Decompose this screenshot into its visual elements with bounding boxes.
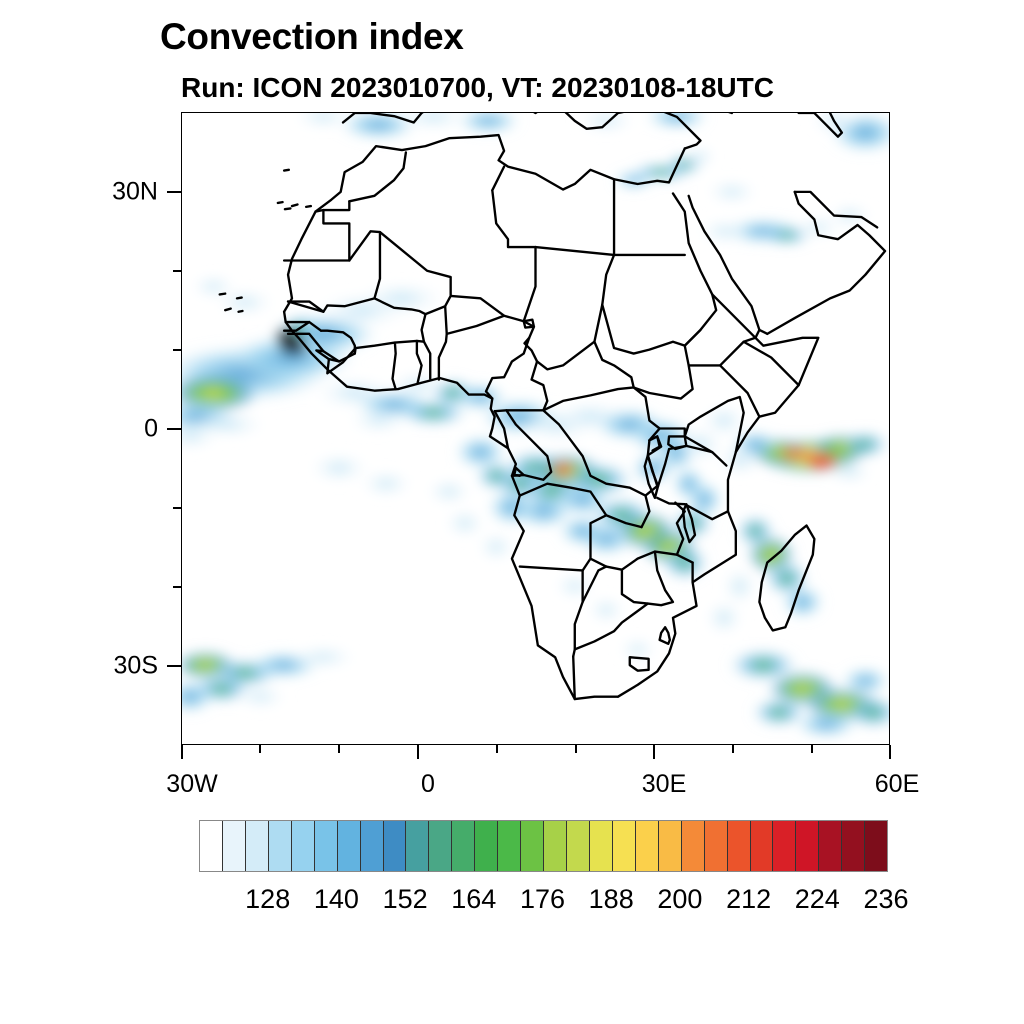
colorbar-cell bbox=[796, 821, 819, 871]
colorbar-cell bbox=[636, 821, 659, 871]
colorbar-cell bbox=[590, 821, 613, 871]
colorbar-cell bbox=[659, 821, 682, 871]
y-tick-major bbox=[167, 665, 181, 667]
colorbar-cell bbox=[751, 821, 774, 871]
colorbar-cell bbox=[406, 821, 429, 871]
colorbar-cell bbox=[269, 821, 292, 871]
colorbar-tick-label: 140 bbox=[314, 884, 359, 915]
run-valid-time-subtitle: Run: ICON 2023010700, VT: 20230108-18UTC bbox=[181, 72, 774, 104]
colorbar-cell bbox=[315, 821, 338, 871]
y-tick-major bbox=[167, 428, 181, 430]
colorbar-cell bbox=[728, 821, 751, 871]
y-tick-minor bbox=[173, 507, 181, 509]
colorbar-cell bbox=[521, 821, 544, 871]
x-tick-major bbox=[181, 745, 183, 759]
x-tick-minor bbox=[575, 745, 577, 753]
x-tick-minor bbox=[811, 745, 813, 753]
colorbar-tick-label: 236 bbox=[863, 884, 908, 915]
colorbar-cell bbox=[246, 821, 269, 871]
colorbar bbox=[199, 820, 888, 872]
x-axis-label-0: 0 bbox=[421, 770, 435, 799]
colorbar-cell bbox=[338, 821, 361, 871]
colorbar-tick-label: 200 bbox=[657, 884, 702, 915]
colorbar-cell bbox=[498, 821, 521, 871]
x-tick-minor bbox=[259, 745, 261, 753]
colorbar-tick-label: 176 bbox=[520, 884, 565, 915]
map-layers bbox=[182, 113, 889, 737]
y-axis-label-30n: 30N bbox=[100, 178, 158, 207]
colorbar-tick-label: 128 bbox=[245, 884, 290, 915]
colorbar-cell bbox=[842, 821, 865, 871]
map-coastlines-borders bbox=[220, 113, 885, 699]
x-tick-minor bbox=[732, 745, 734, 753]
x-tick-major bbox=[417, 745, 419, 759]
colorbar-cell bbox=[682, 821, 705, 871]
x-axis-label-30w: 30W bbox=[166, 770, 217, 799]
convection-index-field bbox=[182, 113, 889, 737]
y-tick-minor bbox=[173, 270, 181, 272]
colorbar-cell bbox=[613, 821, 636, 871]
colorbar-tick-label: 152 bbox=[383, 884, 428, 915]
colorbar-cell bbox=[567, 821, 590, 871]
colorbar-cell bbox=[361, 821, 384, 871]
y-tick-minor bbox=[173, 586, 181, 588]
x-tick-minor bbox=[338, 745, 340, 753]
x-tick-major bbox=[889, 745, 891, 759]
y-tick-minor bbox=[173, 349, 181, 351]
x-axis-label-60e: 60E bbox=[875, 770, 919, 799]
x-axis-label-30e: 30E bbox=[642, 770, 686, 799]
colorbar-cell bbox=[200, 821, 223, 871]
colorbar-cell bbox=[384, 821, 407, 871]
map-canvas bbox=[182, 113, 889, 744]
page-title: Convection index bbox=[160, 16, 464, 58]
y-axis-label-0: 0 bbox=[100, 415, 158, 444]
y-axis-label-30s: 30S bbox=[100, 652, 158, 681]
y-tick-major bbox=[167, 191, 181, 193]
colorbar-cell bbox=[865, 821, 887, 871]
colorbar-tick-label: 224 bbox=[795, 884, 840, 915]
colorbar-cell bbox=[773, 821, 796, 871]
colorbar-cell bbox=[819, 821, 842, 871]
colorbar-tick-label: 188 bbox=[589, 884, 634, 915]
colorbar-cell bbox=[429, 821, 452, 871]
x-tick-minor bbox=[496, 745, 498, 753]
colorbar-tick-label: 212 bbox=[726, 884, 771, 915]
x-tick-major bbox=[653, 745, 655, 759]
colorbar-cell bbox=[292, 821, 315, 871]
colorbar-cell bbox=[452, 821, 475, 871]
colorbar-tick-label: 164 bbox=[451, 884, 496, 915]
colorbar-cell bbox=[223, 821, 246, 871]
colorbar-cell bbox=[475, 821, 498, 871]
colorbar-cell bbox=[544, 821, 567, 871]
colorbar-cell bbox=[705, 821, 728, 871]
map-plot-area bbox=[181, 112, 890, 745]
